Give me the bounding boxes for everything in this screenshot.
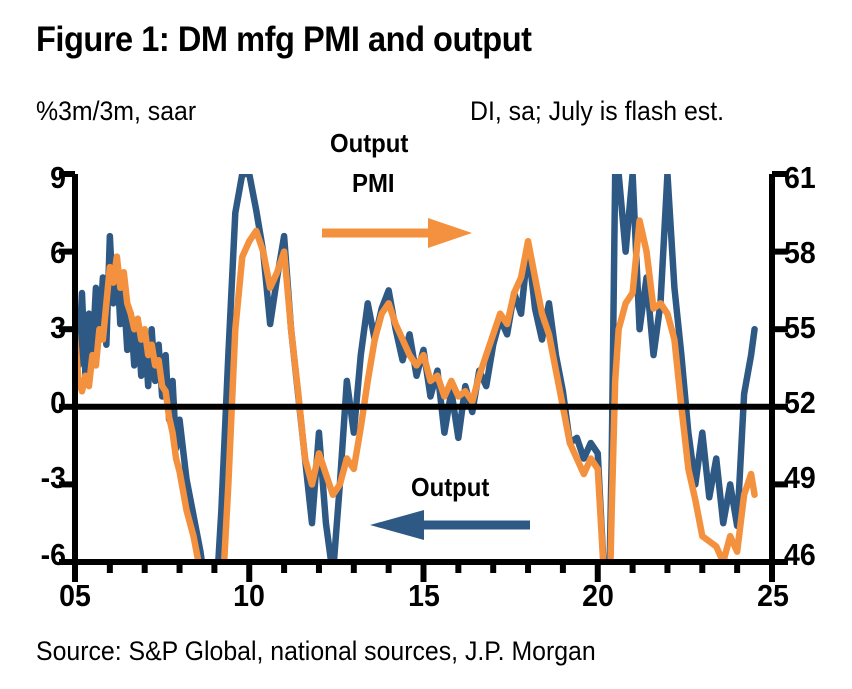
- arrow-right-output-pmi: [322, 218, 472, 248]
- chart-plot-area: [0, 0, 852, 689]
- arrow-left-output: [370, 510, 530, 540]
- series-line-output-pmi: [75, 221, 755, 689]
